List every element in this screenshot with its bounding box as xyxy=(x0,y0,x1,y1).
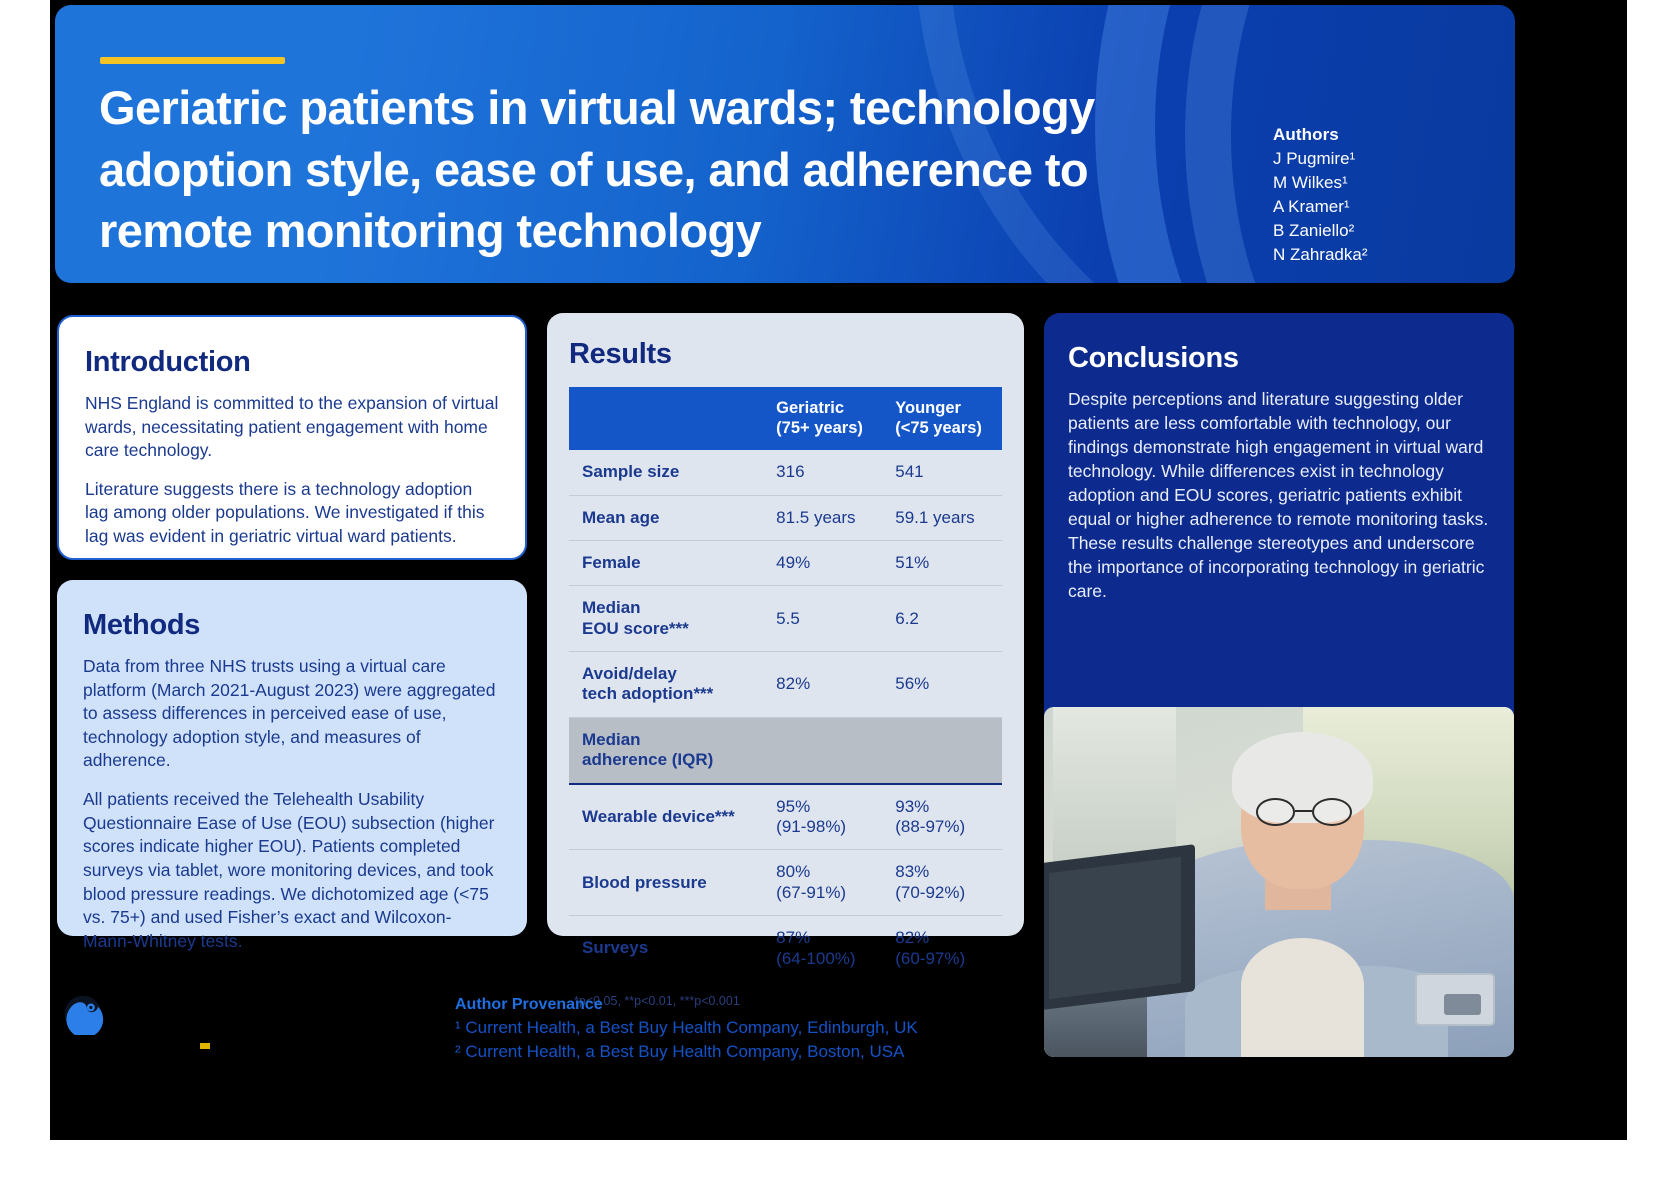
author-name: N Zahradka² xyxy=(1273,243,1463,267)
table-row: Sample size 316 541 xyxy=(569,450,1002,495)
column-header-blank xyxy=(569,387,768,450)
row-label: Surveys xyxy=(569,916,768,981)
photo-glasses-left-lens xyxy=(1256,798,1296,826)
table-row: Blood pressure 80% (67-91%) 83% (70-92%) xyxy=(569,850,1002,916)
value-line1: 541 xyxy=(895,462,923,481)
row-label-line1: Female xyxy=(582,553,641,572)
row-value-geriatric: 81.5 years xyxy=(768,495,887,540)
table-row: Surveys 87% (64-100%) 82% (60-97%) xyxy=(569,916,1002,981)
row-label-line1: Sample size xyxy=(582,462,679,481)
column-header-geriatric: Geriatric (75+ years) xyxy=(768,387,887,450)
value-line1: 93% xyxy=(895,797,929,816)
table-header-row: Geriatric (75+ years) Younger (<75 years… xyxy=(569,387,1002,450)
value-line1: 82% xyxy=(776,674,810,693)
row-label: Sample size xyxy=(569,450,768,495)
row-value-younger: 56% xyxy=(887,652,1002,718)
table-row: Female 49% 51% xyxy=(569,540,1002,585)
value-line1: 51% xyxy=(895,553,929,572)
column-header-line1: Younger xyxy=(895,399,961,417)
value-line1: 49% xyxy=(776,553,810,572)
results-heading: Results xyxy=(569,339,1002,371)
introduction-card: Introduction NHS England is committed to… xyxy=(57,315,527,560)
column-header-younger: Younger (<75 years) xyxy=(887,387,1002,450)
row-label-line1: Surveys xyxy=(582,938,648,957)
value-line1: 59.1 years xyxy=(895,508,974,527)
section-label: Median adherence (IQR) xyxy=(569,717,768,783)
table-row: Mean age 81.5 years 59.1 years xyxy=(569,495,1002,540)
row-value-geriatric: 87% (64-100%) xyxy=(768,916,887,981)
conclusions-text: Despite perceptions and literature sugge… xyxy=(1068,388,1490,604)
value-line2: (70-92%) xyxy=(895,883,965,902)
row-value-younger: 541 xyxy=(887,450,1002,495)
value-line1: 82% xyxy=(895,928,929,947)
photo-glasses-bridge xyxy=(1295,810,1311,812)
row-value-younger: 93% (88-97%) xyxy=(887,784,1002,850)
value-line2: (60-97%) xyxy=(895,949,965,968)
row-value-geriatric: 49% xyxy=(768,540,887,585)
row-value-geriatric: 95% (91-98%) xyxy=(768,784,887,850)
column-header-line2: (75+ years) xyxy=(776,419,863,437)
photo-person-shirt xyxy=(1241,938,1363,1057)
row-value-younger: 82% (60-97%) xyxy=(887,916,1002,981)
current-health-logo xyxy=(62,993,104,1035)
value-line1: 87% xyxy=(776,928,810,947)
row-label: Female xyxy=(569,540,768,585)
row-label: Median EOU score*** xyxy=(569,586,768,652)
value-line1: 95% xyxy=(776,797,810,816)
row-label-line1: Median xyxy=(582,598,641,617)
results-table: Geriatric (75+ years) Younger (<75 years… xyxy=(569,387,1002,981)
footer-accent-dash xyxy=(200,1043,210,1049)
author-name: M Wilkes¹ xyxy=(1273,171,1463,195)
value-line1: 80% xyxy=(776,862,810,881)
row-label-line1: Wearable device*** xyxy=(582,807,735,826)
row-value-younger: 6.2 xyxy=(887,586,1002,652)
section-label-line2: adherence (IQR) xyxy=(582,750,713,769)
value-line2: (67-91%) xyxy=(776,883,846,902)
patient-photo xyxy=(1044,707,1514,1057)
table-row: Avoid/delay tech adoption*** 82% 56% xyxy=(569,652,1002,718)
row-value-geriatric: 316 xyxy=(768,450,887,495)
methods-heading: Methods xyxy=(83,610,501,642)
row-label-line1: Blood pressure xyxy=(582,873,707,892)
page-title: Geriatric patients in virtual wards; tec… xyxy=(99,77,1189,262)
poster-root: Geriatric patients in virtual wards; tec… xyxy=(0,0,1677,1186)
value-line1: 6.2 xyxy=(895,609,919,628)
value-line1: 316 xyxy=(776,462,804,481)
photo-cuff-device xyxy=(1444,994,1482,1015)
row-value-geriatric: 80% (67-91%) xyxy=(768,850,887,916)
authors-heading: Authors xyxy=(1273,123,1463,147)
photo-laptop-screen xyxy=(1049,856,1181,998)
row-label-line2: EOU score*** xyxy=(582,619,689,638)
table-section-row: Median adherence (IQR) xyxy=(569,717,1002,783)
methods-paragraph: Data from three NHS trusts using a virtu… xyxy=(83,655,501,773)
table-row: Median EOU score*** 5.5 6.2 xyxy=(569,586,1002,652)
author-name: J Pugmire¹ xyxy=(1273,147,1463,171)
introduction-paragraph: Literature suggests there is a technolog… xyxy=(85,478,499,549)
methods-card: Methods Data from three NHS trusts using… xyxy=(57,580,527,936)
provenance-line: ² Current Health, a Best Buy Health Comp… xyxy=(455,1040,1075,1063)
section-blank-younger xyxy=(887,717,1002,783)
author-provenance: Author Provenance ¹ Current Health, a Be… xyxy=(455,994,1075,1063)
value-line1: 81.5 years xyxy=(776,508,855,527)
author-name: B Zaniello² xyxy=(1273,219,1463,243)
row-label-line1: Mean age xyxy=(582,508,659,527)
photo-person-hair xyxy=(1232,732,1373,823)
value-line1: 5.5 xyxy=(776,609,800,628)
results-card: Results Geriatric (75+ years) Younger (<… xyxy=(547,313,1024,936)
row-label-line2: tech adoption*** xyxy=(582,684,713,703)
author-name: A Kramer¹ xyxy=(1273,195,1463,219)
conclusions-heading: Conclusions xyxy=(1068,343,1490,375)
authors-list: J Pugmire¹ M Wilkes¹ A Kramer¹ B Zaniell… xyxy=(1273,147,1463,267)
value-line1: 56% xyxy=(895,674,929,693)
introduction-paragraph: NHS England is committed to the expansio… xyxy=(85,392,499,463)
section-label-line1: Median xyxy=(582,730,641,749)
authors-block: Authors J Pugmire¹ M Wilkes¹ A Kramer¹ B… xyxy=(1273,123,1463,267)
row-label: Mean age xyxy=(569,495,768,540)
value-line2: (91-98%) xyxy=(776,817,846,836)
accent-rule xyxy=(100,57,285,64)
row-label-line1: Avoid/delay xyxy=(582,664,677,683)
provenance-heading: Author Provenance xyxy=(455,994,1075,1016)
poster-header: Geriatric patients in virtual wards; tec… xyxy=(55,5,1515,283)
table-row: Wearable device*** 95% (91-98%) 93% (88-… xyxy=(569,784,1002,850)
column-header-line2: (<75 years) xyxy=(895,419,982,437)
methods-paragraph: All patients received the Telehealth Usa… xyxy=(83,788,501,953)
section-blank-geriatric xyxy=(768,717,887,783)
row-value-geriatric: 5.5 xyxy=(768,586,887,652)
value-line1: 83% xyxy=(895,862,929,881)
results-table-body: Sample size 316 541 Mean age 81.5 years xyxy=(569,450,1002,981)
introduction-heading: Introduction xyxy=(85,347,499,379)
photo-glasses-right-lens xyxy=(1312,798,1352,826)
value-line2: (88-97%) xyxy=(895,817,965,836)
provenance-line: ¹ Current Health, a Best Buy Health Comp… xyxy=(455,1016,1075,1039)
column-header-line1: Geriatric xyxy=(776,399,844,417)
row-value-younger: 51% xyxy=(887,540,1002,585)
value-line2: (64-100%) xyxy=(776,949,855,968)
row-value-geriatric: 82% xyxy=(768,652,887,718)
row-value-younger: 83% (70-92%) xyxy=(887,850,1002,916)
row-label: Blood pressure xyxy=(569,850,768,916)
row-label: Wearable device*** xyxy=(569,784,768,850)
row-value-younger: 59.1 years xyxy=(887,495,1002,540)
results-table-head: Geriatric (75+ years) Younger (<75 years… xyxy=(569,387,1002,450)
row-label: Avoid/delay tech adoption*** xyxy=(569,652,768,718)
